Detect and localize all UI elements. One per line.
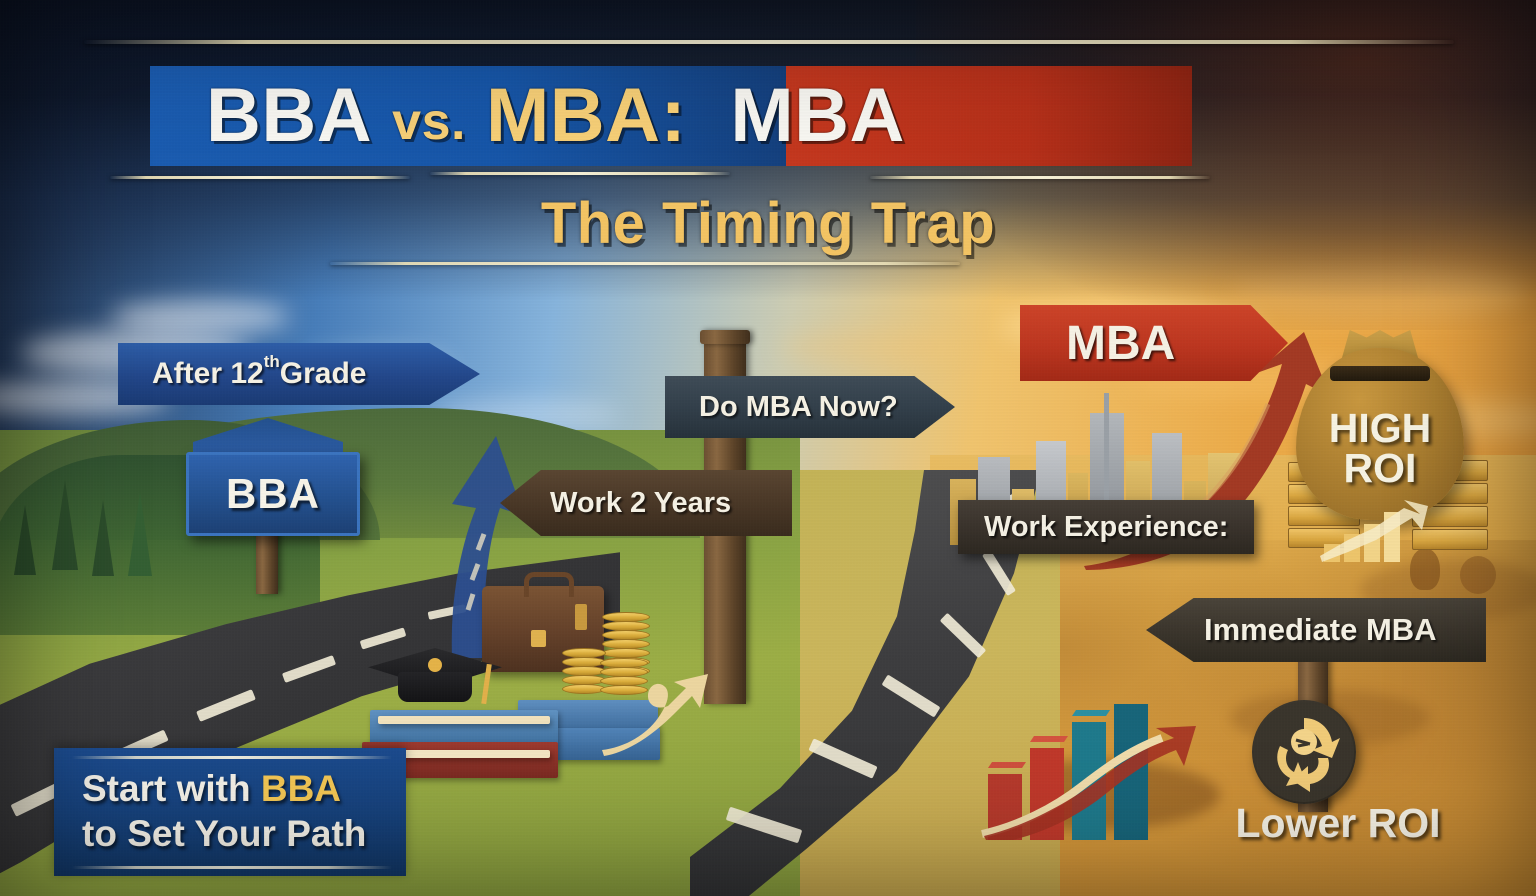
caption-line-1-b: BBA: [261, 768, 341, 809]
sign-work-experience[interactable]: Work Experience:: [958, 500, 1254, 554]
header-mid-rule-center: [430, 172, 730, 175]
bar-chart-icon: [1318, 500, 1448, 562]
lower-roi-label: Lower ROI: [1178, 800, 1498, 847]
bottom-left-caption: Start with BBA to Set Your Path: [82, 766, 412, 856]
sign-mba-red[interactable]: MBA: [1020, 305, 1288, 381]
sign-after-12th-tail: Grade: [280, 357, 367, 391]
title-part-vs: vs.: [392, 96, 466, 148]
sign-work-experience-label: Work Experience:: [984, 511, 1228, 544]
high-roi-line2: ROI: [1344, 445, 1417, 491]
title-part-mba-colon: MBA:: [486, 78, 686, 154]
caption-line-1: Start with BBA: [82, 766, 412, 811]
header-mid-rule-left: [110, 176, 410, 179]
header-top-rule: [84, 40, 1454, 44]
sign-after-12th-grade[interactable]: After 12th Grade: [118, 343, 480, 405]
caption-rule-bottom: [72, 866, 392, 869]
title-part-bba: BBA: [206, 78, 372, 154]
briefcase-clasp: [531, 630, 546, 647]
money-bag-tie: [1330, 366, 1430, 381]
recycle-icon: [1252, 700, 1356, 804]
infographic-poster: BBA vs. MBA: MBA The Timing Trap After 1…: [0, 0, 1536, 896]
header-bottom-rule: [330, 262, 960, 265]
page-subtitle: The Timing Trap: [0, 190, 1536, 257]
graduation-cap-base: [398, 672, 472, 702]
sign-bba-label: BBA: [226, 470, 320, 518]
bar-chart-icon: [978, 700, 1198, 840]
high-roi-label: HIGH ROI: [1300, 408, 1460, 488]
title-part-mba: MBA: [730, 78, 905, 154]
caption-line-1-a: Start with: [82, 768, 261, 809]
page-title: BBA vs. MBA: MBA: [150, 66, 1192, 166]
sign-bba-billboard[interactable]: BBA: [186, 452, 360, 536]
sign-after-12th-label: After 12: [152, 357, 264, 391]
header-mid-rule-right: [870, 176, 1210, 179]
caption-line-2: to Set Your Path: [82, 811, 412, 856]
sign-work-2-years-label: Work 2 Years: [550, 487, 731, 520]
caption-rule-top: [72, 756, 392, 759]
sign-work-2-years[interactable]: Work 2 Years: [500, 470, 792, 536]
sign-mba-red-label: MBA: [1066, 316, 1175, 371]
graduation-cap-button: [428, 658, 442, 672]
signpost-center-cap: [700, 330, 750, 344]
tree: [1460, 556, 1496, 594]
gold-up-arrow-icon: [600, 660, 710, 756]
sign-immediate-mba[interactable]: Immediate MBA: [1146, 598, 1486, 662]
sign-immediate-mba-label: Immediate MBA: [1204, 612, 1437, 648]
sign-do-mba-now[interactable]: Do MBA Now?: [665, 376, 955, 438]
high-roi-line1: HIGH: [1329, 405, 1432, 451]
sign-do-mba-now-label: Do MBA Now?: [699, 391, 898, 424]
book-pages: [378, 716, 550, 724]
briefcase-clasp: [575, 604, 587, 630]
briefcase-handle: [524, 572, 574, 597]
sign-after-12th-sup: th: [264, 352, 280, 372]
